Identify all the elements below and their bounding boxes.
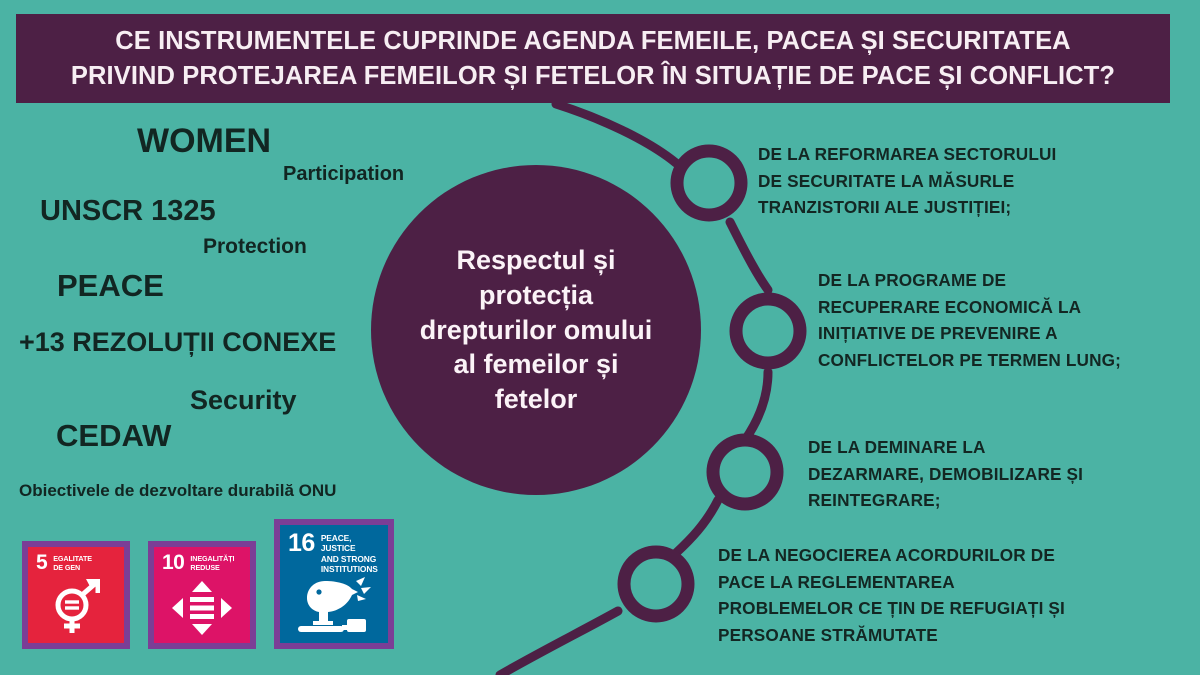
node-ring-4	[624, 552, 688, 616]
connector-path-tail	[500, 611, 618, 675]
reduced-inequalities-icon	[154, 579, 250, 637]
keyword-unscr-1325: UNSCR 1325	[40, 195, 216, 228]
sdg-card-10[interactable]: 10 INEGALITĂȚI REDUSE	[148, 541, 256, 649]
keyword-peace: PEACE	[57, 268, 164, 304]
branch-item-peace-negotiations: DE LA NEGOCIEREA ACORDURILOR DE PACE LA …	[718, 542, 1188, 649]
node-ring-3	[713, 440, 777, 504]
sdg-label: EGALITATE DE GEN	[53, 554, 92, 573]
sdg-caption: Obiectivele de dezvoltare durabilă ONU	[19, 481, 336, 501]
hub-label: Respectul și protecția drepturilor omulu…	[398, 243, 675, 417]
branch-item-economic-recovery: DE LA PROGRAME DE RECUPERARE ECONOMICĂ L…	[818, 267, 1198, 374]
keyword-protection: Protection	[203, 235, 307, 259]
node-ring-2	[736, 299, 800, 363]
keyword-rezolutii-conexe: +13 REZOLUȚII CONEXE	[19, 327, 336, 358]
sdg-label: INEGALITĂȚI REDUSE	[190, 554, 234, 573]
title-banner: CE INSTRUMENTELE CUPRINDE AGENDA FEMEILE…	[16, 14, 1170, 103]
sdg-number: 5	[36, 554, 47, 572]
connector-path-top	[556, 104, 676, 163]
sdg-card-16[interactable]: 16 PEACE, JUSTICE AND STRONG INSTITUTION…	[274, 519, 394, 649]
keyword-women: WOMEN	[137, 122, 271, 161]
node-ring-1	[677, 151, 741, 215]
hub-circle: Respectul și protecția drepturilor omulu…	[371, 165, 701, 495]
branch-item-demining-ddr: DE LA DEMINARE LA DEZARMARE, DEMOBILIZAR…	[808, 434, 1188, 514]
connector-path-1-2	[730, 222, 768, 290]
sdg-card-5[interactable]: 5 EGALITATE DE GEN	[22, 541, 130, 649]
infographic-slide: CE INSTRUMENTELE CUPRINDE AGENDA FEMEILE…	[0, 0, 1200, 675]
gender-equality-icon	[28, 575, 124, 637]
sdg-number: 16	[288, 532, 315, 554]
branch-item-security-sector-reform: DE LA REFORMAREA SECTORULUI DE SECURITAT…	[758, 141, 1158, 221]
sdg-label: PEACE, JUSTICE AND STRONG INSTITUTIONS	[321, 532, 388, 574]
sdg-card-row: 5 EGALITATE DE GEN	[22, 519, 394, 649]
sdg-number: 10	[162, 554, 184, 572]
keyword-participation: Participation	[283, 163, 404, 186]
peace-justice-dove-icon	[280, 575, 388, 637]
keyword-cedaw: CEDAW	[56, 418, 171, 454]
keyword-security: Security	[190, 385, 297, 416]
connector-path-2-3	[745, 372, 768, 440]
connector-path-3-4	[676, 500, 718, 553]
page-title: CE INSTRUMENTELE CUPRINDE AGENDA FEMEILE…	[71, 24, 1115, 92]
